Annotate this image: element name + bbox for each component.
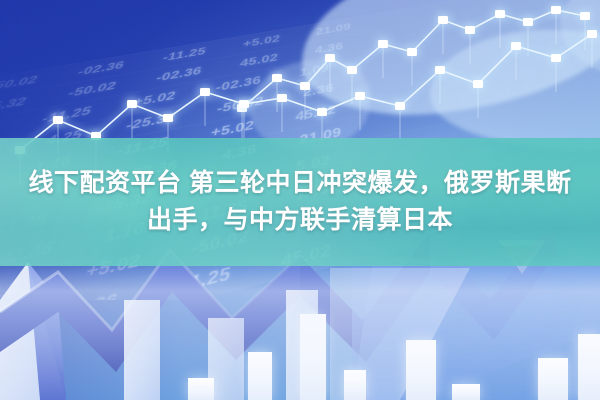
title-line-1: 线下配资平台 第三轮中日冲突爆发，俄罗斯果断	[29, 168, 572, 199]
banner-title: 线下配资平台 第三轮中日冲突爆发，俄罗斯果断 出手，与中方联手清算日本	[0, 138, 600, 266]
bottom-light-wash	[0, 255, 600, 400]
title-line-2: 出手，与中方联手清算日本	[147, 205, 453, 236]
news-banner-image: -50.02-02.36-11.25+5.0221.09-25.32-50.02…	[0, 0, 600, 400]
